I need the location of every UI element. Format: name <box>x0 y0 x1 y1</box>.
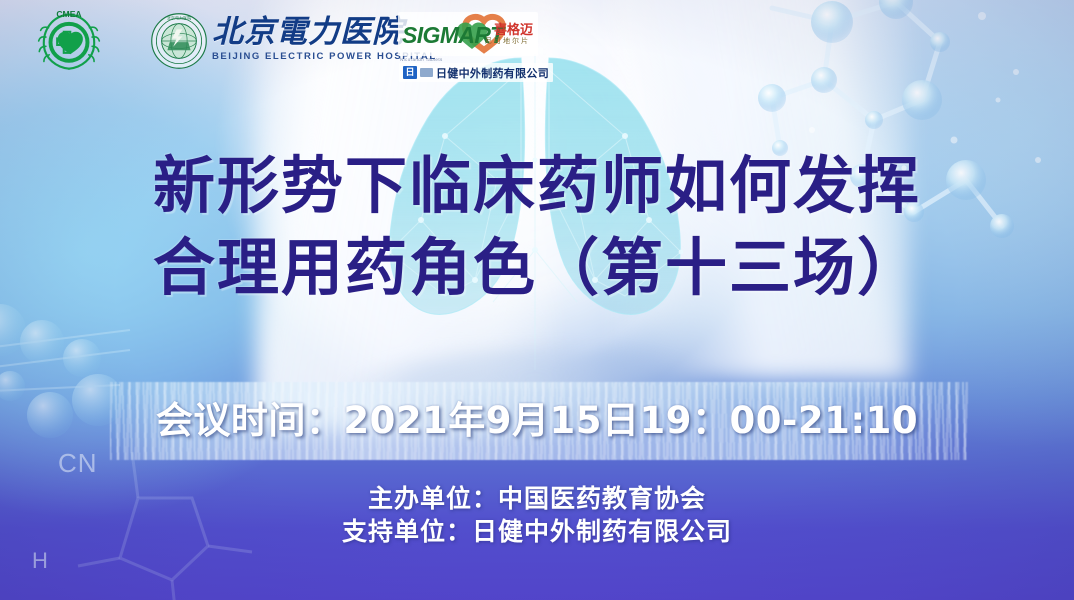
organizer-line-2: 支持单位：日健中外制药有限公司 <box>0 515 1074 548</box>
cmea-logo-icon: CMEA <box>36 8 102 74</box>
svg-text:CMEA: CMEA <box>56 9 81 19</box>
title-line-1: 新形势下临床药师如何发挥 <box>0 145 1074 227</box>
rijian-badge-icon: 日 <box>403 66 417 79</box>
organizer-block: 主办单位：中国医药教育协会 支持单位：日健中外制药有限公司 <box>0 482 1074 548</box>
meeting-time: 会议时间：2021年9月15日19：00-21:10 <box>0 398 1074 444</box>
beijing-electric-power-hospital-wordmark: 北京電力医院 BEIJING ELECTRIC POWER HOSPITAL <box>212 14 392 72</box>
chem-label-cn: CN <box>58 448 98 479</box>
bjeph-english-name: BEIJING ELECTRIC POWER HOSPITAL <box>212 51 392 62</box>
poster-title: 新形势下临床药师如何发挥 合理用药角色（第十三场） <box>0 145 1074 309</box>
rijian-company-name: 日健中外制药有限公司 <box>436 65 549 81</box>
sigmart-tiny-note: Nicorandil Tablets <box>400 57 443 62</box>
organizer-line-1: 主办单位：中国医药教育协会 <box>0 482 1074 515</box>
sigmart-chinese-sub: 尼可地尔片 <box>485 36 530 46</box>
chem-label-h: H <box>32 548 49 574</box>
meeting-time-text: 会议时间：2021年9月15日19：00-21:10 <box>0 398 1074 444</box>
conference-poster: CN H CMEA <box>0 0 1074 600</box>
rijian-company-logo: 日 日健中外制药有限公司 <box>399 63 553 82</box>
bjeph-chinese-name: 北京電力医院 <box>212 14 392 50</box>
rijian-badge-char: 日 <box>405 68 414 77</box>
rijian-bar-icon <box>420 68 433 77</box>
beijing-electric-power-hospital-badge-icon: 北京电力医院 <box>150 12 208 70</box>
sigmart-logo: SIGMART 喜格迈 尼可地尔片 <box>398 12 538 56</box>
svg-text:北京电力医院: 北京电力医院 <box>167 15 191 21</box>
logo-bar: CMEA 北京电力医院 北京電力医院 BEIJING ELECTRIC POWE… <box>0 0 1074 90</box>
title-line-2: 合理用药角色（第十三场） <box>0 227 1074 309</box>
